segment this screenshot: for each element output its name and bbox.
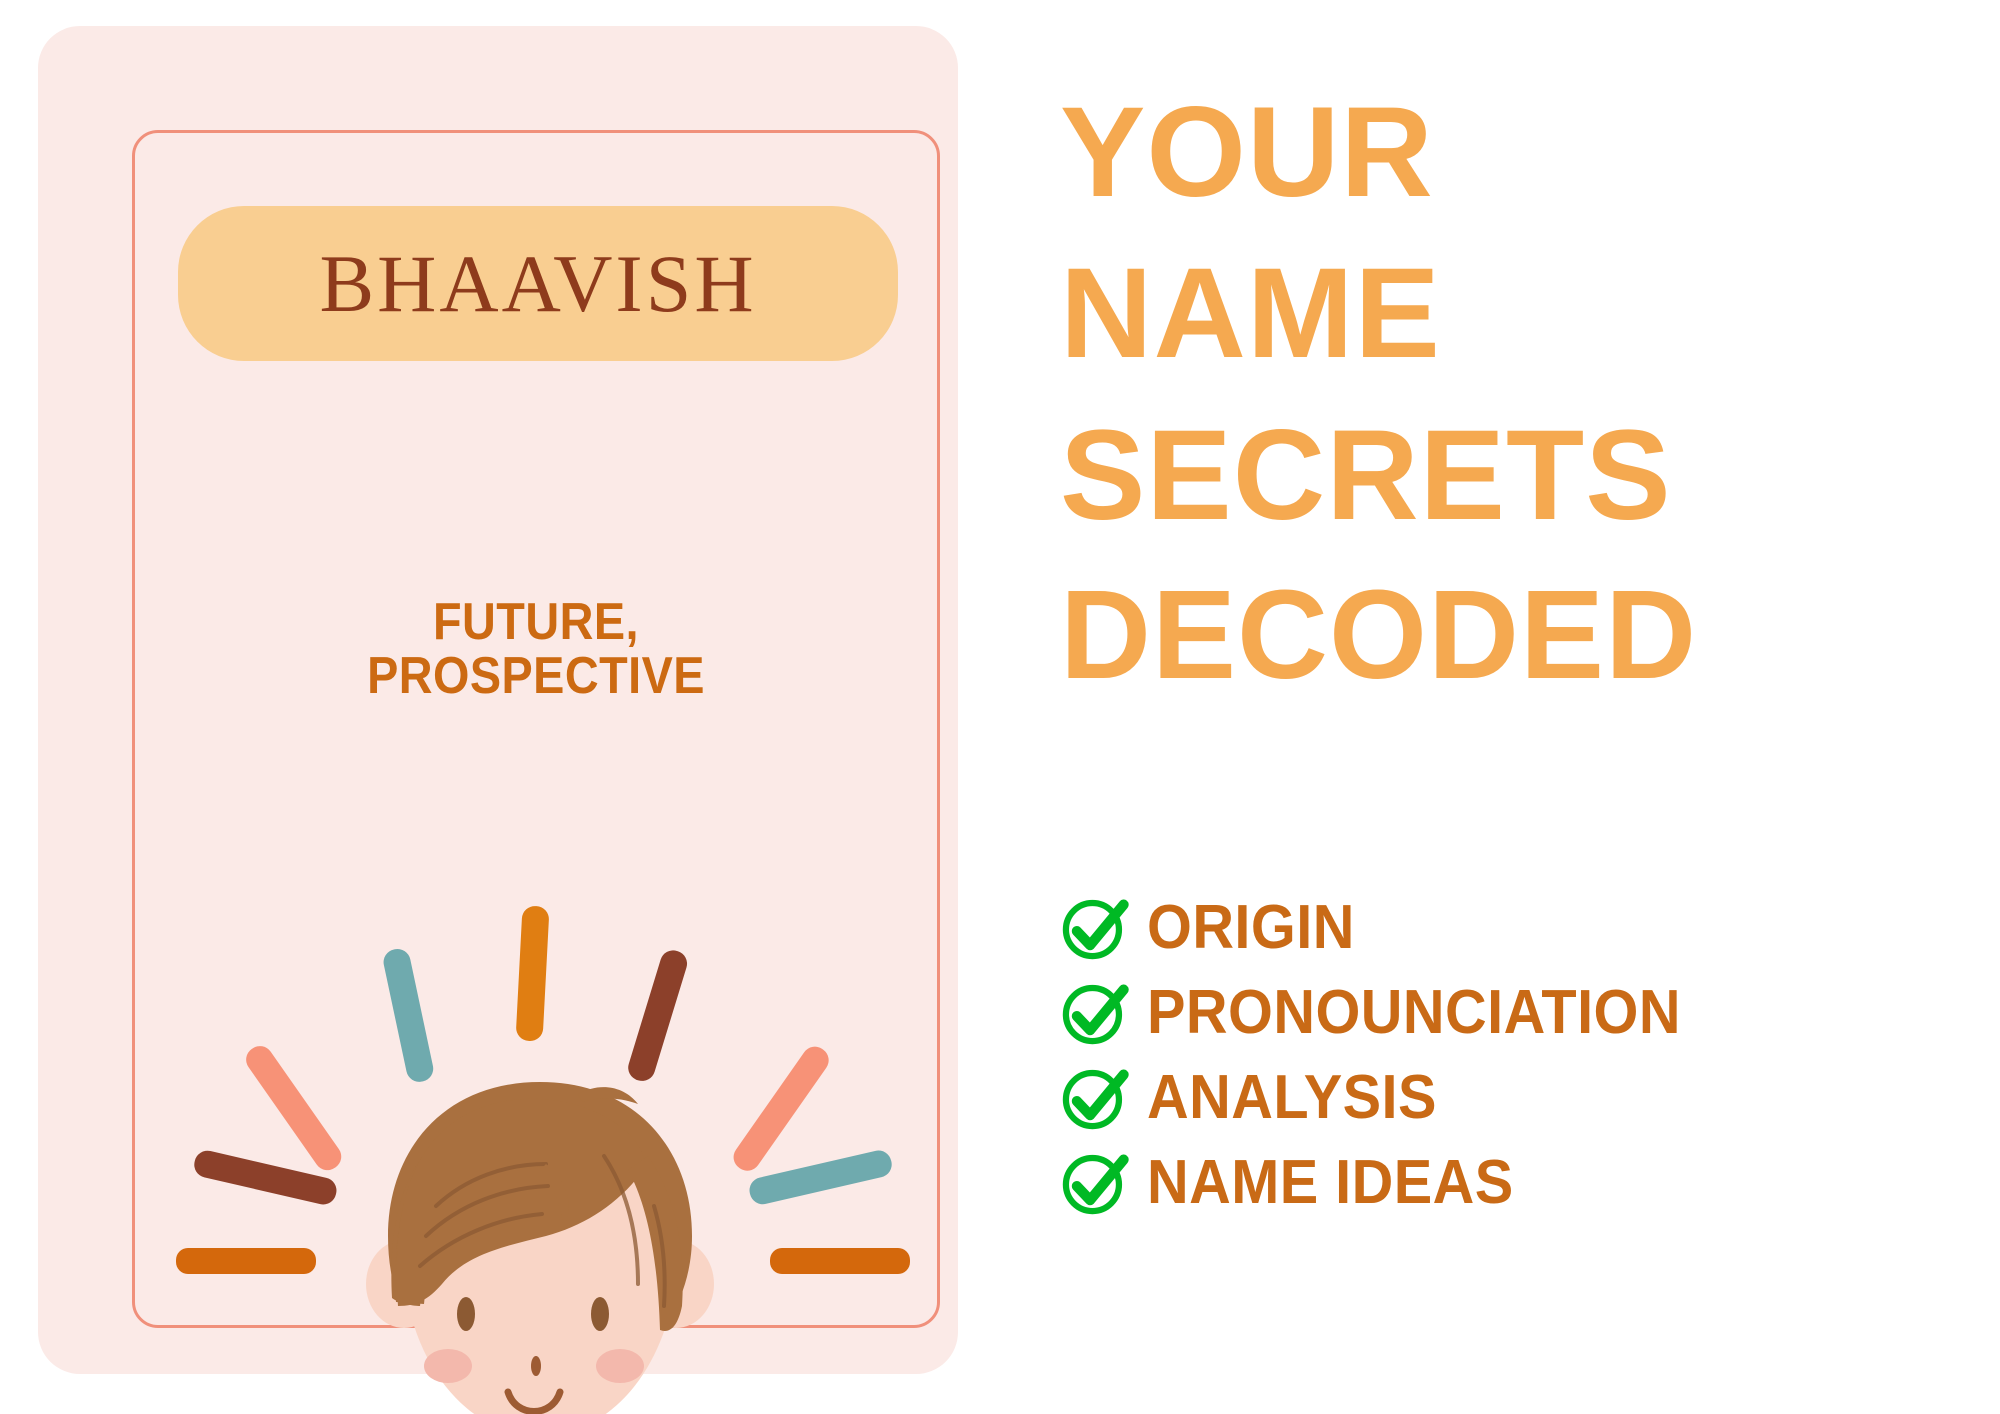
headline-line-3: SECRETS: [1060, 395, 1920, 556]
headline: YOUR NAME SECRETS DECODED: [1060, 72, 1920, 715]
check-circle-icon: [1055, 974, 1133, 1052]
name-meaning-block: FUTURE, PROSPECTIVE: [172, 596, 899, 703]
feature-item-name-ideas: NAME IDEAS: [1055, 1140, 1955, 1225]
feature-label: NAME IDEAS: [1147, 1152, 1514, 1214]
feature-item-origin: ORIGIN: [1055, 885, 1955, 970]
feature-label: ORIGIN: [1147, 897, 1355, 959]
headline-line-2: NAME: [1060, 233, 1920, 394]
check-circle-icon: [1055, 1059, 1133, 1137]
check-circle-icon: [1055, 889, 1133, 967]
feature-label: PRONOUNCIATION: [1147, 982, 1681, 1044]
feature-label: ANALYSIS: [1147, 1067, 1437, 1129]
feature-list: ORIGIN PRONOUNCIATION ANALYSIS NAME IDEA…: [1055, 885, 1955, 1225]
name-badge: BHAAVISH: [178, 206, 898, 361]
name-meaning-line-2: PROSPECTIVE: [172, 650, 899, 704]
check-circle-icon: [1055, 1144, 1133, 1222]
name-badge-label: BHAAVISH: [319, 243, 756, 325]
child-face-sunburst-illustration: [148, 906, 938, 1406]
headline-line-4: DECODED: [1060, 556, 1920, 715]
feature-item-pronounciation: PRONOUNCIATION: [1055, 970, 1955, 1055]
feature-item-analysis: ANALYSIS: [1055, 1055, 1955, 1140]
headline-line-1: YOUR: [1060, 72, 1920, 233]
name-meaning-line-1: FUTURE,: [172, 596, 899, 650]
child-face: [366, 1082, 714, 1414]
name-card: BHAAVISH FUTURE, PROSPECTIVE: [38, 26, 958, 1374]
